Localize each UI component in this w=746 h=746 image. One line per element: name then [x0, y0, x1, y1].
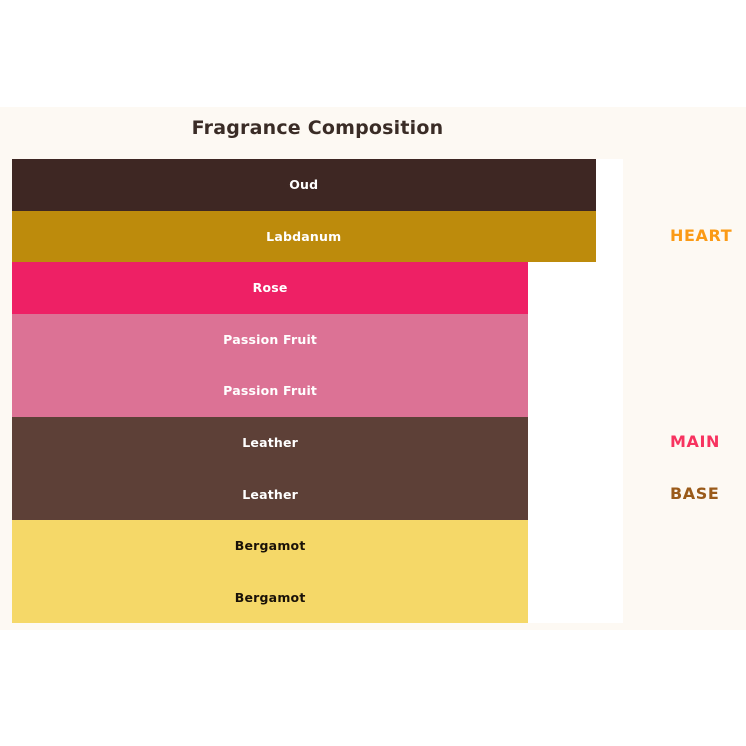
page-title: Fragrance Composition — [0, 117, 635, 139]
bar-label: Bergamot — [235, 538, 306, 553]
bar-passion-fruit-3[interactable]: Passion Fruit — [12, 314, 528, 366]
bar-label: Leather — [242, 435, 298, 450]
bar-leather-5[interactable]: Leather — [12, 417, 528, 469]
bar-bergamot-8[interactable]: Bergamot — [12, 571, 528, 623]
bar-leather-6[interactable]: Leather — [12, 468, 528, 520]
bar-label: Labdanum — [266, 229, 341, 244]
annotation-base: BASE — [670, 484, 719, 503]
bar-labdanum-1[interactable]: Labdanum — [12, 211, 596, 263]
bar-label: Leather — [242, 487, 298, 502]
bar-passion-fruit-4[interactable]: Passion Fruit — [12, 365, 528, 417]
bar-label: Rose — [253, 280, 288, 295]
bar-label: Passion Fruit — [223, 383, 317, 398]
annotation-heart: HEART — [670, 226, 732, 245]
annotation-main: MAIN — [670, 432, 720, 451]
bar-label: Passion Fruit — [223, 332, 317, 347]
bar-label: Bergamot — [235, 590, 306, 605]
bar-bergamot-7[interactable]: Bergamot — [12, 520, 528, 572]
bar-rose-2[interactable]: Rose — [12, 262, 528, 314]
bar-label: Oud — [289, 177, 318, 192]
chart-card: Fragrance Composition OudLabdanumRosePas… — [0, 107, 746, 630]
plot-area: OudLabdanumRosePassion FruitPassion Frui… — [12, 159, 623, 623]
bar-oud-0[interactable]: Oud — [12, 159, 596, 211]
